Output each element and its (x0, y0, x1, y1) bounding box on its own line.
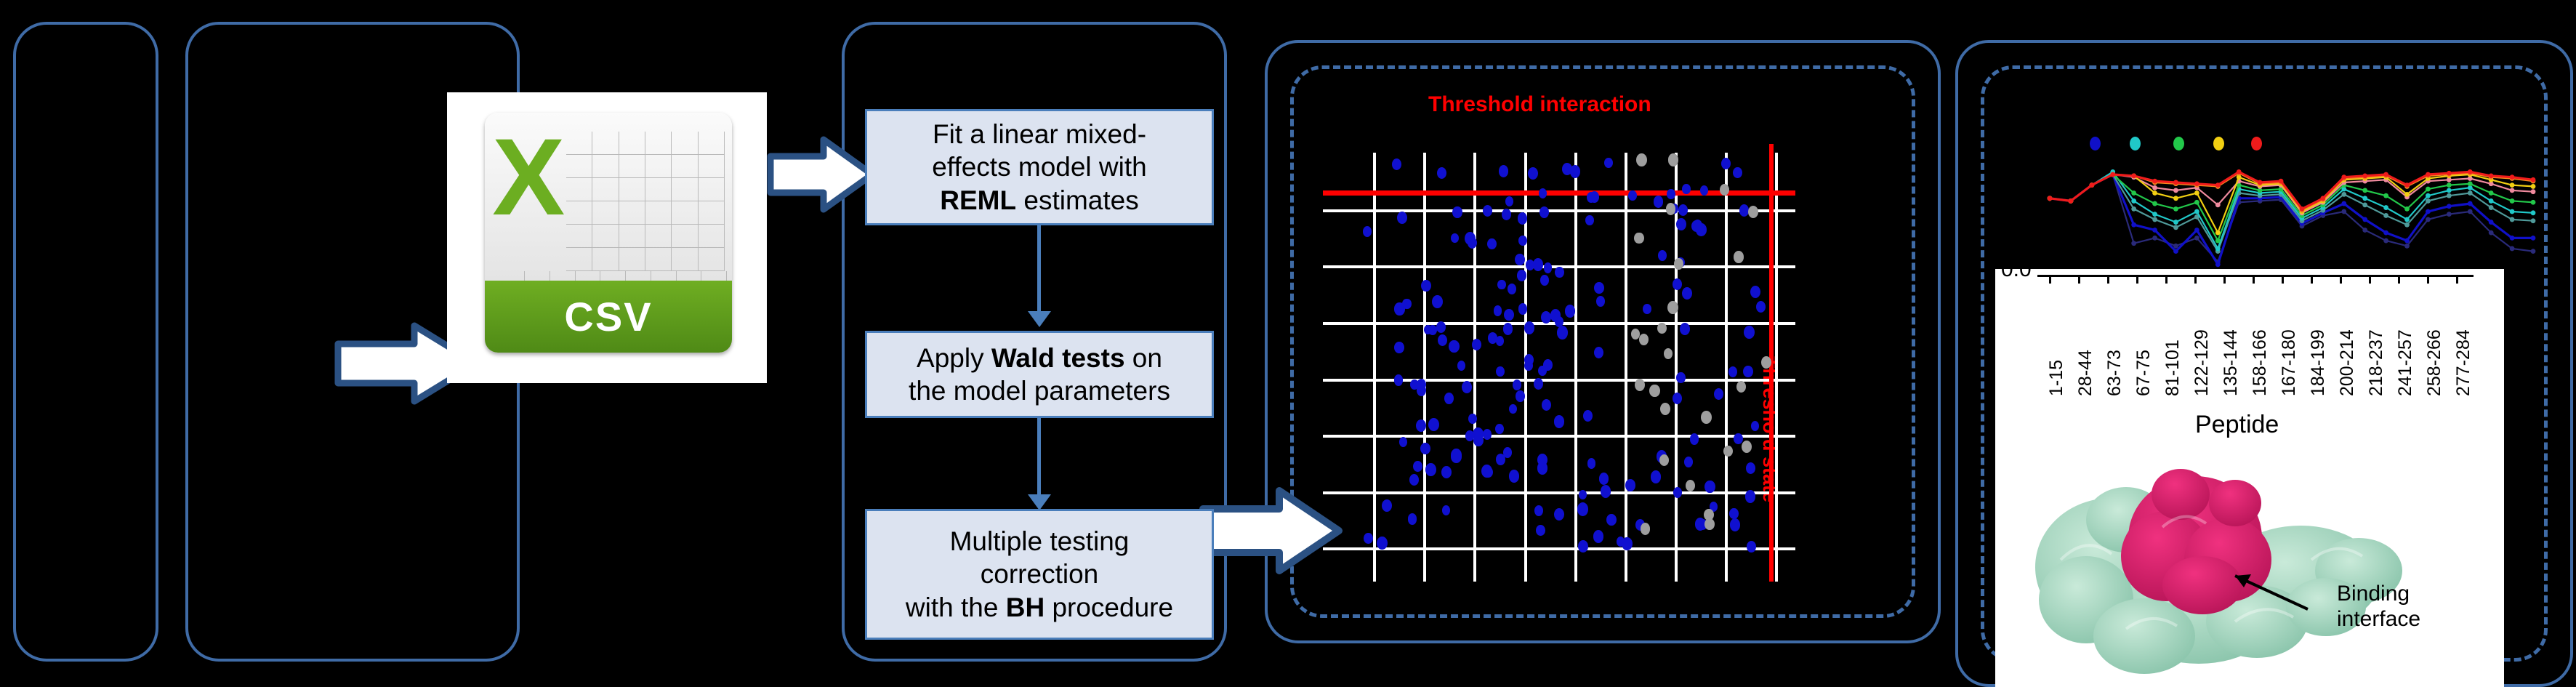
chart-data-point (2510, 209, 2515, 214)
scatter-point-nonsignificant (1686, 480, 1695, 491)
chart-data-point (2194, 209, 2199, 214)
scatter-point-nonsignificant (1649, 385, 1660, 398)
scatter-point (1651, 470, 1661, 483)
scatter-point (1667, 189, 1675, 199)
scatter-point (1555, 316, 1563, 327)
scatter-point-nonsignificant (1634, 233, 1643, 244)
scatter-point (1743, 366, 1752, 377)
chart-data-point (2510, 217, 2515, 222)
chart-data-point (2173, 196, 2178, 201)
input-panel (13, 22, 158, 662)
scatter-point-nonsignificant (1636, 153, 1647, 166)
scatter-gridline-v (1775, 153, 1778, 582)
scatter-point (1625, 479, 1635, 491)
structure-inset-figure: 0.0 1-1528-4463-7367-7581-101122-129135-… (1995, 269, 2504, 687)
scatter-point (1678, 204, 1689, 217)
connector-model-wald (1037, 225, 1041, 318)
step-model-text: Fit a linear mixed- effects model with R… (932, 118, 1146, 216)
chart-data-point (2194, 190, 2199, 196)
chart-data-point (2152, 212, 2157, 217)
scatter-point (1590, 191, 1599, 203)
scatter-point (1745, 490, 1755, 502)
scatter-point (1468, 414, 1476, 424)
chart-data-point (2215, 230, 2221, 236)
scatter-point-nonsignificant (1635, 379, 1645, 391)
scatter-point (1516, 390, 1525, 401)
scatter-point (1397, 212, 1407, 224)
scatter-point (1518, 303, 1528, 314)
scatter-point (1593, 530, 1604, 543)
chart-data-point (2152, 179, 2157, 184)
scatter-point (1496, 366, 1505, 377)
excel-x-glyph: X (492, 122, 581, 254)
scatter-point (1695, 518, 1705, 531)
chart-data-point (2258, 180, 2263, 185)
chart-data-point (2215, 238, 2221, 244)
csv-card: X CSV (447, 92, 767, 383)
scatter-point (1539, 206, 1549, 218)
chart-data-point (2341, 174, 2346, 180)
binding-interface-annotation: Binding interface (2337, 582, 2420, 632)
peptide-tick-label: 63-73 (2104, 350, 2125, 396)
scatter-point-nonsignificant (1742, 441, 1752, 453)
connector-model-wald-head (1028, 311, 1051, 327)
scatter-point (1394, 374, 1404, 386)
scatter-point (1594, 282, 1604, 294)
scatter-point (1622, 537, 1633, 550)
chart-data-point (2531, 200, 2536, 205)
chart-series-line (2050, 174, 2533, 265)
scatter-point (1382, 499, 1392, 512)
scatter-point (1643, 304, 1651, 315)
scatter-point (1528, 167, 1538, 180)
chart-data-point (2362, 203, 2367, 208)
scatter-point-nonsignificant (1641, 523, 1650, 534)
scatter-point (1587, 458, 1596, 468)
scatter-point (1432, 295, 1443, 308)
scatter-point (1483, 429, 1492, 440)
scatter-point (1599, 473, 1609, 485)
peptide-tick-label: 28-44 (2075, 350, 2096, 396)
step-bh-box[interactable]: Multiple testing correction with the BH … (865, 509, 1214, 640)
chart-data-point (2131, 222, 2136, 228)
scatter-point-nonsignificant (1674, 258, 1683, 270)
scatter-point (1499, 165, 1508, 177)
peptide-tick-label: 277-284 (2453, 329, 2474, 396)
scatter-point (1536, 525, 1545, 536)
scatter-point (1509, 470, 1519, 483)
scatter-point (1472, 339, 1481, 350)
chart-data-point (2173, 206, 2178, 212)
scatter-point (1513, 379, 1521, 390)
scatter-point (1452, 206, 1462, 218)
scatter-point (1555, 267, 1563, 278)
scatter-point (1673, 487, 1682, 498)
chart-data-point (2426, 172, 2431, 177)
scatter-point-nonsignificant (1720, 184, 1729, 196)
scatter-point (1604, 158, 1613, 169)
scatter-point-nonsignificant (1704, 509, 1714, 521)
csv-icon-grid-main (566, 132, 725, 270)
scatter-point (1684, 457, 1693, 467)
scatter-point (1756, 301, 1766, 313)
scatter-point (1539, 188, 1547, 198)
chart-data-point (2300, 206, 2305, 212)
peptide-tick-label: 81-101 (2162, 340, 2183, 396)
chart-data-point (2510, 236, 2515, 241)
step-wald-box[interactable]: Apply Wald tests on the model parameters (865, 331, 1214, 418)
scatter-point (1505, 196, 1513, 206)
chart-data-point (2069, 198, 2074, 204)
scatter-point (1537, 462, 1547, 474)
scatter-gridline-v (1473, 153, 1476, 582)
scatter-point (1409, 474, 1419, 486)
csv-file-icon: X CSV (485, 113, 732, 353)
scatter-gridline-v (1574, 153, 1577, 582)
scatter-point (1579, 490, 1587, 500)
scatter-point (1402, 299, 1411, 310)
scatter-point (1658, 250, 1667, 261)
chart-data-point (2152, 236, 2157, 241)
scatter-point (1451, 449, 1462, 462)
scatter-point (1503, 447, 1512, 458)
chart-data-point (2194, 200, 2199, 205)
chart-data-point (2510, 182, 2515, 188)
scatter-point (1518, 236, 1527, 246)
chart-data-point (2447, 212, 2452, 217)
chart-data-point (2173, 220, 2178, 225)
scatter-point (1509, 404, 1517, 414)
chart-data-point (2152, 190, 2157, 196)
scatter-point-nonsignificant (1668, 153, 1679, 166)
chart-data-point (2447, 204, 2452, 209)
scatter-point (1570, 165, 1581, 178)
scatter-point (1444, 393, 1454, 404)
chart-data-point (2489, 198, 2494, 204)
connector-wald-bh-head (1028, 494, 1051, 510)
scatter-point (1538, 366, 1547, 377)
scatter-point (1428, 418, 1439, 431)
scatter-point (1436, 321, 1446, 333)
chart-data-point (2447, 171, 2452, 176)
scatter-point (1594, 347, 1603, 358)
scatter-point (1364, 533, 1373, 544)
scatter-point (1690, 433, 1699, 445)
scatter-point (1502, 209, 1511, 220)
scatter-point-nonsignificant (1723, 446, 1733, 457)
scatter-point (1442, 505, 1450, 515)
scatter-point (1438, 334, 1447, 346)
scatter-point-nonsignificant (1657, 323, 1667, 334)
chart-data-point (2362, 173, 2367, 178)
scatter-point (1721, 158, 1731, 169)
chart-data-point (2510, 246, 2515, 252)
chart-data-point (2531, 236, 2536, 241)
scatter-point (1676, 218, 1686, 230)
chart-data-point (2362, 217, 2367, 222)
scatter-point (1542, 399, 1551, 411)
chart-data-point (2447, 193, 2452, 198)
scatter-point-nonsignificant (1639, 334, 1649, 345)
scatter-point (1682, 184, 1690, 194)
chart-data-point (2510, 198, 2515, 204)
scatter-point (1408, 513, 1417, 525)
chart-data-point (2320, 196, 2325, 201)
threshold-interaction-label: Threshold interaction (1428, 92, 1651, 117)
scatter-point-nonsignificant (1761, 356, 1771, 369)
chart-data-point (2404, 217, 2410, 222)
peptide-tick-label: 218-237 (2366, 329, 2387, 396)
chart-data-point (2468, 209, 2473, 214)
chart-series-line (2050, 174, 2533, 262)
chart-data-point (2531, 189, 2536, 194)
scatter-point (1676, 372, 1686, 384)
chart-data-point (2447, 182, 2452, 188)
scatter-point (1451, 233, 1459, 244)
chart-data-point (2089, 182, 2094, 188)
scatter-point (1654, 196, 1663, 207)
chart-data-point (2152, 217, 2157, 222)
chart-data-point (2489, 173, 2494, 178)
scatter-gridline-v (1373, 153, 1376, 582)
chart-data-point (2468, 169, 2473, 174)
peptide-tick-label: 258-266 (2424, 329, 2445, 396)
scatter-point-nonsignificant (1748, 206, 1758, 218)
chart-data-point (2131, 190, 2136, 196)
scatter-point (1746, 462, 1756, 475)
chart-data-point (2404, 238, 2410, 244)
scatter-plot-area (1323, 153, 1795, 582)
scatter-point (1504, 309, 1514, 321)
chart-data-point (2404, 244, 2410, 249)
scatter-point (1682, 287, 1692, 300)
chart-data-point (2404, 222, 2410, 228)
scatter-point (1544, 262, 1553, 273)
chart-data-point (2048, 196, 2053, 201)
chart-data-point (2131, 241, 2136, 246)
chart-data-point (2531, 249, 2536, 254)
chart-data-point (2341, 209, 2346, 214)
step-bh-text: Multiple testing correction with the BH … (906, 525, 1173, 623)
chart-data-point (2383, 205, 2388, 210)
scatter-point (1729, 508, 1738, 519)
chart-data-point (2173, 244, 2178, 249)
step-model-box[interactable]: Fit a linear mixed- effects model with R… (865, 109, 1214, 225)
chart-data-point (2489, 205, 2494, 210)
chart-data-point (2152, 201, 2157, 206)
csv-type-label: CSV (485, 281, 732, 353)
scatter-point (1496, 336, 1504, 346)
scatter-point (1730, 518, 1740, 531)
chart-data-point (2341, 201, 2346, 206)
chart-data-point (2173, 188, 2178, 193)
scatter-point (1524, 321, 1535, 334)
scatter-point (1565, 305, 1575, 318)
peptide-tick-label: 1-15 (2046, 360, 2067, 396)
scatter-point (1517, 270, 1526, 281)
peptide-tick-label: 158-166 (2250, 329, 2271, 396)
scatter-point (1417, 379, 1426, 390)
scatter-point (1714, 388, 1723, 400)
scatter-point (1392, 158, 1401, 170)
chart-data-point (2426, 193, 2431, 198)
binding-interface-line1: Binding (2337, 582, 2420, 607)
scatter-point (1457, 361, 1466, 371)
chart-lines (1995, 138, 2548, 284)
scatter-point (1413, 461, 1422, 472)
scatter-gridline-v (1725, 153, 1728, 582)
scatter-point-nonsignificant (1734, 251, 1744, 263)
chart-data-point (2341, 192, 2346, 197)
scatter-point (1601, 485, 1611, 497)
scatter-point (1540, 275, 1549, 285)
scatter-point (1495, 424, 1503, 434)
chart-data-point (2279, 179, 2284, 184)
chart-data-point (2237, 169, 2242, 174)
chart-data-point (2194, 228, 2199, 233)
chart-data-point (2173, 249, 2178, 254)
scatter-point-nonsignificant (1701, 411, 1712, 424)
chart-data-point (2362, 196, 2367, 201)
scatter-point (1557, 326, 1568, 339)
scatter-point (1583, 410, 1593, 422)
scatter-point (1534, 378, 1543, 390)
peptide-line-chart (1995, 131, 2548, 276)
chart-data-point (2362, 188, 2367, 193)
chart-data-point (2404, 182, 2410, 188)
chart-data-point (2131, 198, 2136, 204)
scatter-point (1363, 226, 1372, 237)
scatter-gridline-v (1625, 153, 1627, 582)
peptide-tick-labels: 1-1528-4463-7367-7581-101122-129135-1441… (1995, 269, 2504, 400)
scatter-point (1515, 254, 1524, 265)
scatter-point (1739, 204, 1750, 217)
peptide-tick-label: 167-180 (2279, 329, 2300, 396)
peptide-tick-label: 135-144 (2221, 329, 2242, 396)
scatter-point (1394, 342, 1404, 353)
chart-data-point (2510, 174, 2515, 180)
chart-data-point (2531, 218, 2536, 223)
connector-wald-bh (1037, 418, 1041, 502)
chart-data-point (2152, 185, 2157, 190)
scatter-point (1534, 505, 1543, 516)
protein-structure-image (2017, 451, 2410, 676)
chart-data-point (2215, 246, 2221, 252)
chart-data-point (2404, 192, 2410, 197)
chart-data-point (2426, 198, 2431, 204)
scatter-point (1585, 215, 1594, 225)
chart-data-point (2468, 181, 2473, 186)
scatter-point (1606, 514, 1616, 526)
chart-data-point (2131, 206, 2136, 212)
scatter-point (1596, 296, 1606, 308)
chart-data-point (2468, 190, 2473, 196)
scatter-point (1494, 305, 1502, 316)
scatter-point (1462, 381, 1472, 394)
chart-data-point (2531, 210, 2536, 215)
chart-data-point (2362, 228, 2367, 233)
chart-data-point (2215, 203, 2221, 208)
scatter-gridline-v (1675, 153, 1678, 582)
chart-data-point (2383, 213, 2388, 218)
chart-data-point (2510, 188, 2515, 193)
scatter-point (1420, 443, 1430, 455)
peptide-tick-label: 184-199 (2308, 329, 2329, 396)
scatter-point (1733, 167, 1742, 178)
scatter-point (1508, 284, 1516, 294)
chart-data-point (2426, 209, 2431, 214)
scatter-point (1425, 463, 1436, 476)
scatter-point-nonsignificant (1659, 454, 1669, 466)
scatter-point (1449, 340, 1459, 353)
chart-data-point (2131, 173, 2136, 178)
chart-data-point (2489, 230, 2494, 236)
scatter-point (1441, 466, 1452, 478)
peptide-tick-label: 67-75 (2133, 350, 2154, 396)
scatter-point (1437, 167, 1446, 179)
scatter-point (1628, 190, 1636, 201)
scatter-point (1473, 434, 1484, 446)
chart-data-point (2489, 190, 2494, 196)
chart-data-point (2383, 230, 2388, 236)
scatter-point (1577, 502, 1588, 515)
scatter-point (1751, 421, 1759, 431)
scatter-point (1503, 323, 1513, 334)
chart-data-point (2426, 187, 2431, 192)
peptide-tick-label: 241-257 (2395, 329, 2416, 396)
chart-data-point (2215, 182, 2221, 188)
arrow-csv-to-analysis (767, 134, 876, 214)
chart-data-point (2468, 201, 2473, 206)
scatter-point-nonsignificant (1736, 381, 1746, 393)
chart-data-point (2110, 172, 2115, 177)
scatter-point (1747, 541, 1756, 553)
scatter-point (1554, 415, 1564, 428)
scatter-point (1377, 537, 1388, 550)
chart-data-point (2447, 188, 2452, 193)
scatter-point (1728, 366, 1737, 377)
scatter-point (1421, 280, 1430, 292)
chart-data-point (2383, 172, 2388, 177)
scatter-point (1526, 260, 1534, 270)
scatter-point (1680, 323, 1690, 335)
scatter-point-nonsignificant (1666, 203, 1675, 214)
scatter-point (1487, 238, 1496, 249)
chart-data-point (2194, 181, 2199, 186)
scatter-point (1554, 508, 1564, 521)
scatter-point (1673, 393, 1682, 404)
chart-data-point (2194, 236, 2199, 241)
chart-data-point (2531, 177, 2536, 182)
chart-data-point (2383, 193, 2388, 198)
chart-data-point (2426, 217, 2431, 222)
scatter-point (1744, 326, 1755, 339)
peptide-tick-label: 122-129 (2191, 329, 2213, 396)
scatter-point (1578, 540, 1588, 553)
scatter-point (1399, 437, 1408, 447)
scatter-point (1518, 212, 1527, 224)
peptide-tick-label: 200-214 (2337, 329, 2358, 396)
scatter-gridline-v (1423, 153, 1426, 582)
scatter-point (1483, 205, 1493, 217)
chart-data-point (2383, 238, 2388, 244)
binding-interface-line2: interface (2337, 607, 2420, 632)
chart-data-point (2489, 220, 2494, 225)
chart-data-point (2404, 206, 2410, 212)
chart-data-point (2152, 228, 2157, 233)
chart-data-point (2173, 225, 2178, 230)
x-axis-title: Peptide (2195, 411, 2279, 439)
